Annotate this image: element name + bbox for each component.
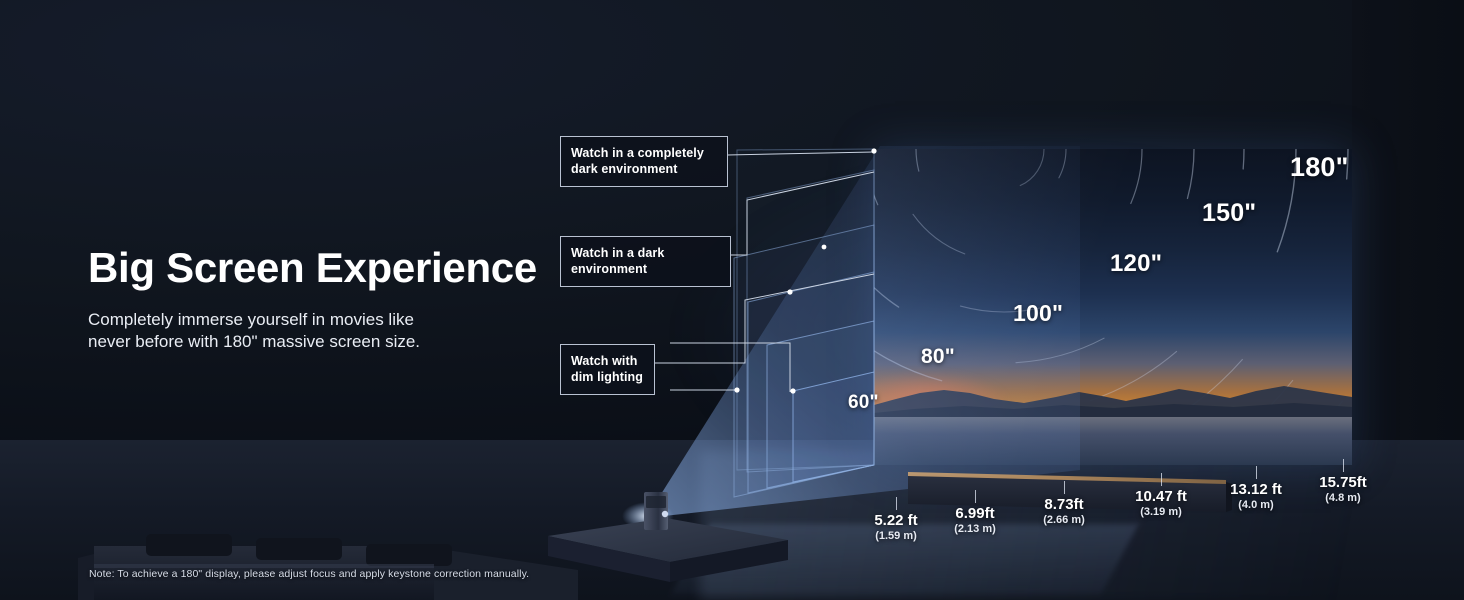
size-label-120: 120" [1110,250,1162,278]
page-title: Big Screen Experience [88,244,537,292]
subtitle-text: Completely immerse yourself in movies li… [88,309,420,354]
tick-mark [1161,473,1162,486]
distance-10-47ft: 10.47 ft (3.19 m) [1129,488,1193,518]
tick-mark [1256,466,1257,479]
mountain-silhouette [874,375,1352,421]
tick-mark [896,497,897,510]
callout-dim-lighting[interactable]: Watch with dim lighting [560,344,655,395]
size-label-80: 80" [921,345,955,369]
projector-device [638,490,674,532]
tick-mark [1343,459,1344,472]
distance-6-99ft: 6.99ft (2.13 m) [947,505,1003,535]
distance-8-73ft: 8.73ft (2.66 m) [1035,496,1093,526]
callout-dark[interactable]: Watch in a dark environment [560,236,731,287]
size-label-100: 100" [1013,300,1063,327]
hero-banner: 60" 80" 100" 120" 150" 180" Watch in a c… [0,0,1464,600]
sofa [78,518,578,600]
tick-mark [975,490,976,503]
size-label-60: 60" [848,392,879,414]
tick-mark [1064,481,1065,494]
star-trails [874,149,1352,465]
size-label-180: 180" [1290,152,1349,183]
projection-screen-180 [874,149,1352,465]
distance-5-22ft: 5.22 ft (1.59 m) [866,512,926,542]
distance-15-75ft: 15.75ft (4.8 m) [1314,474,1372,504]
distance-13-12ft: 13.12 ft (4.0 m) [1225,481,1287,511]
sun-glow [874,365,1064,425]
callout-completely-dark[interactable]: Watch in a completely dark environment [560,136,728,187]
water-reflection [874,417,1352,465]
footnote: Note: To achieve a 180" display, please … [89,568,529,580]
size-label-150: 150" [1202,199,1256,228]
